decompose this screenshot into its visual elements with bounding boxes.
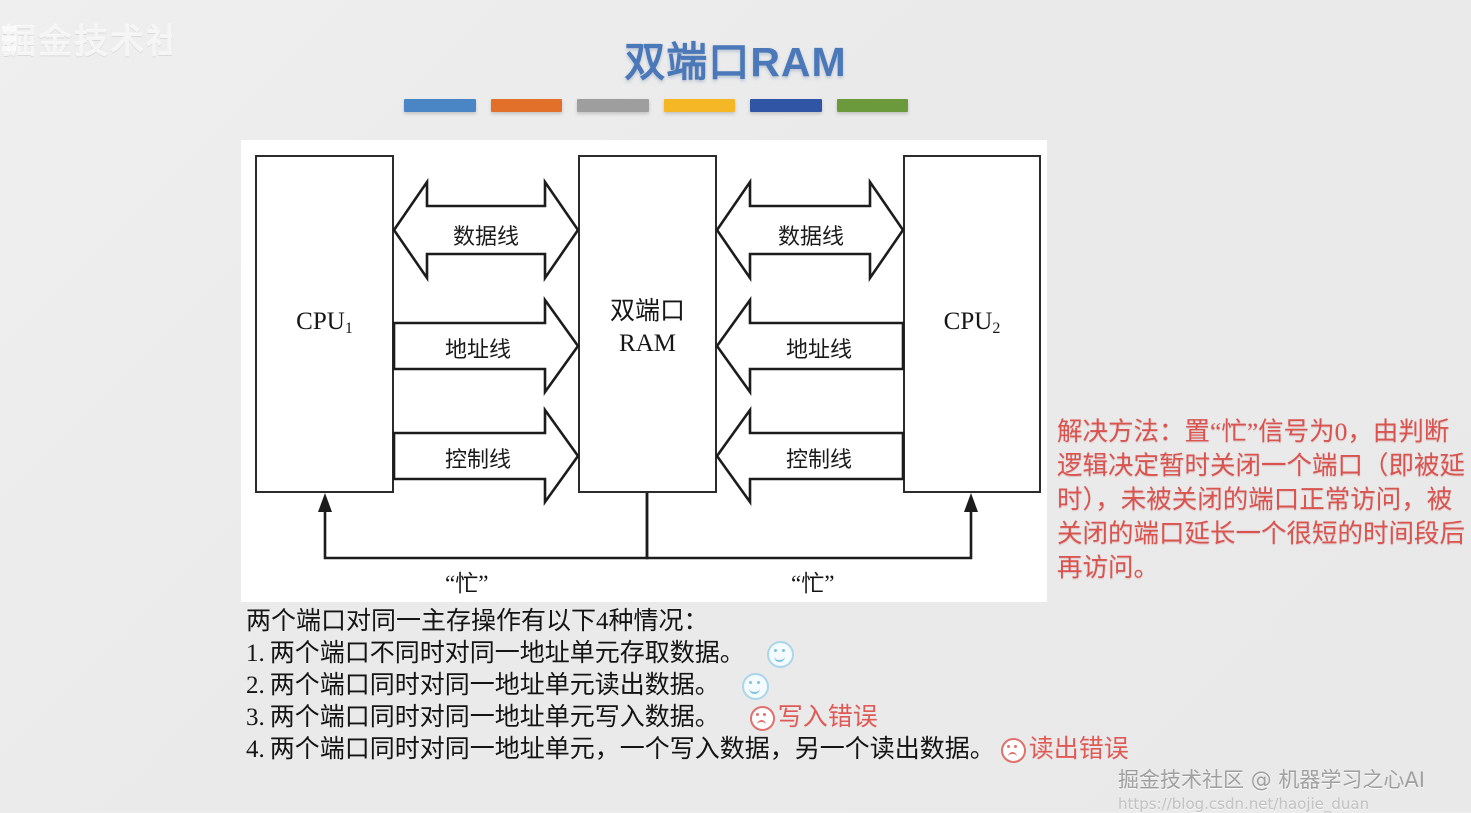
case-3-number: 3. bbox=[246, 702, 265, 734]
busy-arrowhead-right bbox=[964, 493, 978, 512]
busy-arrowhead-left bbox=[318, 493, 332, 512]
accent-bar-5 bbox=[750, 99, 822, 112]
right-address-label: 地址线 bbox=[727, 332, 911, 364]
busy-label-left: “忙” bbox=[445, 564, 488, 598]
cases-list: 两个端口对同一主存操作有以下4种情况： 1. 两个端口不同时对同一地址单元存取数… bbox=[246, 606, 1366, 766]
page-title-en: RAM bbox=[750, 39, 846, 85]
page-title-cn: 双端口 bbox=[624, 39, 750, 85]
diagram-panel: CPU1 双端口 RAM CPU2 bbox=[241, 140, 1047, 602]
smiley-icon bbox=[742, 673, 769, 700]
list-item: 3. 两个端口同时对同一地址单元写入数据。 写入错误 bbox=[246, 702, 1366, 734]
left-address-label: 地址线 bbox=[386, 332, 570, 364]
right-data-label: 数据线 bbox=[719, 219, 903, 251]
case-2-number: 2. bbox=[246, 670, 265, 702]
sad-face-icon bbox=[750, 706, 775, 731]
watermark-bottom-right-text: 掘金技术社区 @ 机器学习之心AI bbox=[1118, 768, 1425, 792]
accent-bar-2 bbox=[491, 99, 563, 112]
cases-lead: 两个端口对同一主存操作有以下4种情况： bbox=[246, 606, 1366, 638]
case-1-number: 1. bbox=[246, 638, 265, 670]
accent-bar-1 bbox=[404, 99, 476, 112]
busy-wire-right bbox=[647, 493, 971, 558]
case-3-error-text: 写入错误 bbox=[778, 702, 878, 734]
right-control-label: 控制线 bbox=[727, 442, 911, 474]
solution-text: 解决方法：置“忙”信号为0，由判断逻辑决定暂时关闭一个端口（即被延时），未被关闭… bbox=[1057, 415, 1465, 585]
watermark-bottom-right: 掘金技术社区 @ 机器学习之心AI https://blog.csdn.net/… bbox=[1118, 764, 1468, 808]
case-4-number: 4. bbox=[246, 734, 265, 766]
list-item: 4. 两个端口同时对同一地址单元，一个写入数据，另一个读出数据。 读出错误 bbox=[246, 734, 1366, 766]
left-control-label: 控制线 bbox=[386, 442, 570, 474]
case-2-mark bbox=[742, 673, 769, 700]
list-item: 2. 两个端口同时对同一地址单元读出数据。 bbox=[246, 670, 1366, 702]
case-2-text: 两个端口同时对同一地址单元读出数据。 bbox=[270, 670, 720, 702]
page-title: 双端口RAM bbox=[0, 28, 1471, 88]
busy-wire-left bbox=[325, 493, 647, 558]
accent-bar-6 bbox=[837, 99, 909, 112]
case-1-text: 两个端口不同时对同一地址单元存取数据。 bbox=[270, 638, 745, 670]
accent-bar-4 bbox=[664, 99, 736, 112]
watermark-url: https://blog.csdn.net/haojie_duan bbox=[1118, 795, 1468, 813]
sad-face-icon bbox=[1001, 738, 1026, 763]
slide-canvas: 掘金技术社区 双端口RAM CPU1 双端口 RAM CPU2 bbox=[0, 0, 1471, 811]
case-4-text: 两个端口同时对同一地址单元，一个写入数据，另一个读出数据。 bbox=[270, 734, 995, 766]
bus-wiring bbox=[241, 140, 1047, 602]
case-4-error-text: 读出错误 bbox=[1029, 734, 1129, 766]
case-4-mark: 读出错误 bbox=[1001, 734, 1129, 766]
list-item: 1. 两个端口不同时对同一地址单元存取数据。 bbox=[246, 638, 1366, 670]
case-3-mark: 写入错误 bbox=[750, 702, 878, 734]
left-data-label: 数据线 bbox=[394, 219, 578, 251]
accent-bars bbox=[404, 99, 908, 112]
case-1-mark bbox=[767, 641, 794, 668]
busy-label-right: “忙” bbox=[791, 564, 834, 598]
accent-bar-3 bbox=[577, 99, 649, 112]
case-3-text: 两个端口同时对同一地址单元写入数据。 bbox=[270, 702, 720, 734]
smiley-icon bbox=[767, 641, 794, 668]
